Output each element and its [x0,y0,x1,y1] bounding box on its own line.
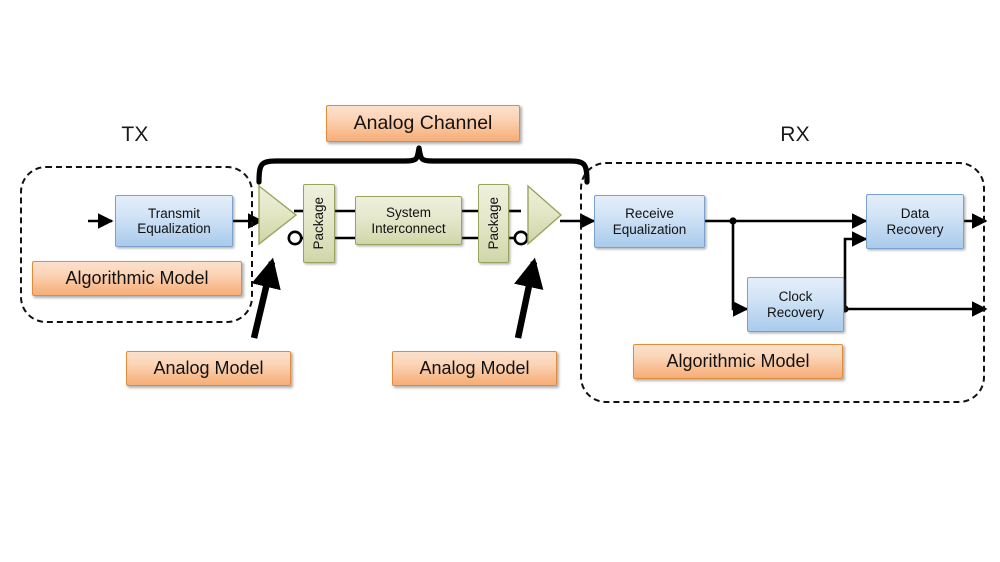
pointer-analog-model-rx [518,262,534,338]
block-clock-recovery[interactable]: Clock Recovery [747,277,844,332]
label-analog-model-tx[interactable]: Analog Model [126,351,291,386]
system-interconnect-line1: System [371,205,445,221]
package-left-label: Package [311,197,327,250]
transmit-equalization-line1: Transmit [137,206,211,222]
receive-equalization-line2: Equalization [613,222,687,238]
tx-section-title: TX [95,123,175,147]
rx-differential-receiver[interactable] [512,182,568,254]
package-right-label: Package [486,197,502,250]
analog-channel-brace [259,148,587,182]
block-receive-equalization[interactable]: Receive Equalization [594,195,705,248]
label-analog-channel[interactable]: Analog Channel [326,105,520,142]
clock-recovery-line2: Recovery [767,305,824,321]
rx-receiver-triangle [528,186,561,244]
diagram-canvas: TX RX Transmit Equalization Package Sy [0,0,1000,562]
transmit-equalization-line2: Equalization [137,221,211,237]
system-interconnect-line2: Interconnect [371,221,445,237]
block-data-recovery[interactable]: Data Recovery [866,194,964,249]
label-tx-algorithmic-model[interactable]: Algorithmic Model [32,261,242,296]
label-analog-model-rx[interactable]: Analog Model [392,351,557,386]
rx-receiver-inverting-bubble [515,232,527,244]
pointer-analog-model-tx [254,262,272,338]
data-recovery-line1: Data [886,206,943,222]
block-system-interconnect[interactable]: System Interconnect [355,196,462,245]
rx-section-title: RX [755,123,835,147]
tx-driver-inverting-bubble [289,232,301,244]
receive-equalization-line1: Receive [613,206,687,222]
block-package-right[interactable]: Package [478,184,509,263]
data-recovery-line2: Recovery [886,222,943,238]
clock-recovery-line1: Clock [767,289,824,305]
label-rx-algorithmic-model[interactable]: Algorithmic Model [633,344,843,379]
block-transmit-equalization[interactable]: Transmit Equalization [115,195,233,247]
block-package-left[interactable]: Package [303,184,335,263]
